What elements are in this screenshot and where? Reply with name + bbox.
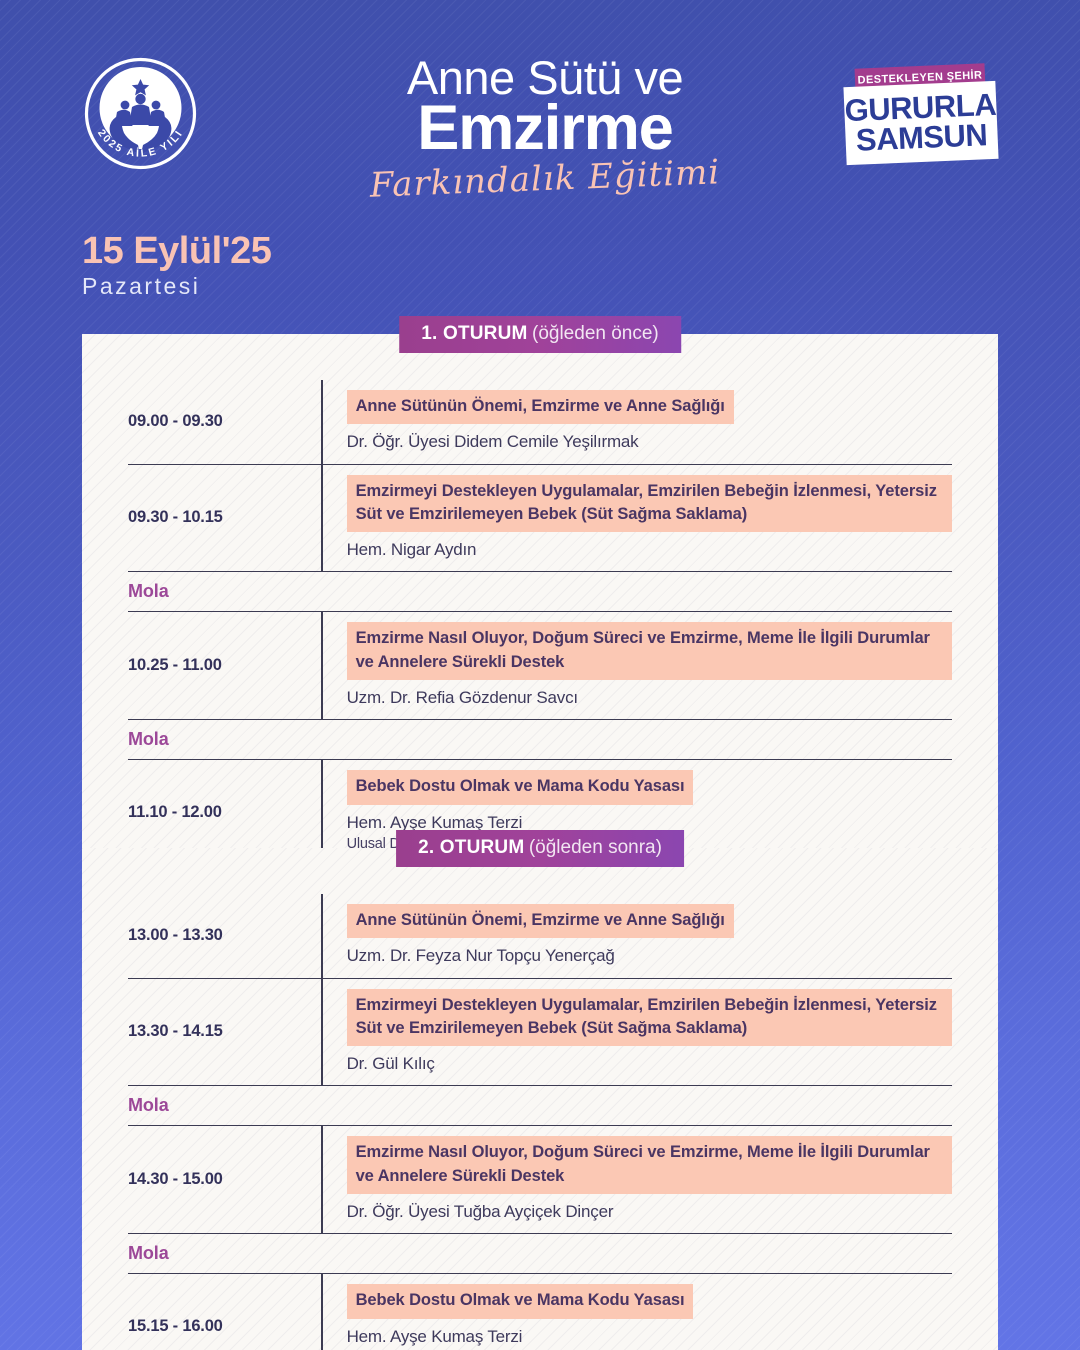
row-time: 09.00 - 09.30	[128, 380, 321, 464]
row-topic: Emzirmeyi Destekleyen Uygulamalar, Emzir…	[347, 989, 952, 1047]
row-speaker-name: Hem. Ayşe Kumaş Terzi	[347, 1327, 523, 1346]
title-line-2: Emzirme	[300, 97, 790, 160]
row-speaker: Dr. Öğr. Üyesi Tuğba Ayçiçek Dinçer	[347, 1201, 952, 1223]
session-block-1: 1. OTURUM (öğleden önce) 09.00 - 09.30An…	[82, 334, 998, 887]
break-label: Mola	[128, 581, 169, 601]
session-2-banner-bold: 2. OTURUM	[418, 837, 524, 858]
supporting-city-badge: DESTEKLEYEN ŞEHİR GURURLA SAMSUN	[845, 66, 997, 166]
event-date: 15 Eylül'25 Pazartesi	[82, 232, 271, 300]
break-row: Mola	[128, 571, 952, 611]
session-1-banner-light: (öğleden önce)	[532, 323, 659, 344]
badge-word-2: SAMSUN	[855, 120, 987, 155]
row-content: Emzirmeyi Destekleyen Uygulamalar, Emzir…	[323, 979, 952, 1086]
badge-main-block: GURURLA SAMSUN	[843, 81, 998, 165]
row-topic: Emzirme Nasıl Oluyor, Doğum Süreci ve Em…	[347, 622, 952, 680]
row-time: 09.30 - 10.15	[128, 465, 321, 572]
row-time: 13.30 - 14.15	[128, 979, 321, 1086]
break-label: Mola	[128, 729, 169, 749]
row-content: Emzirmeyi Destekleyen Uygulamalar, Emzir…	[323, 465, 952, 572]
session-2-banner-light: (öğleden sonra)	[529, 837, 662, 858]
row-speaker: Uzm. Dr. Refia Gözdenur Savcı	[347, 687, 952, 709]
row-time: 10.25 - 11.00	[128, 612, 321, 719]
row-speaker-name: Hem. Ayşe Kumaş Terzi	[347, 813, 523, 832]
break-label: Mola	[128, 1243, 169, 1263]
row-topic: Emzirmeyi Destekleyen Uygulamalar, Emzir…	[347, 475, 952, 533]
row-speaker-name: Uzm. Dr. Refia Gözdenur Savcı	[347, 688, 578, 707]
session-1-card: 09.00 - 09.30Anne Sütünün Önemi, Emzirme…	[82, 334, 998, 887]
poster-header: 2025 AİLE YILI Anne Sütü ve Emzirme Fark…	[0, 0, 1080, 215]
row-speaker: Hem. Nigar Aydın	[347, 539, 952, 561]
row-topic: Emzirme Nasıl Oluyor, Doğum Süreci ve Em…	[347, 1136, 952, 1194]
title-line-3: Farkındalık Eğitimi	[300, 153, 791, 206]
row-topic: Bebek Dostu Olmak ve Mama Kodu Yasası	[347, 1284, 694, 1318]
date-main: 15 Eylül'25	[82, 232, 271, 272]
row-topic: Anne Sütünün Önemi, Emzirme ve Anne Sağl…	[347, 390, 734, 424]
row-speaker-name: Dr. Gül Kılıç	[347, 1054, 435, 1073]
break-label: Mola	[128, 1095, 169, 1115]
schedule-row: 14.30 - 15.00Emzirme Nasıl Oluyor, Doğum…	[128, 1125, 952, 1233]
break-row: Mola	[128, 1085, 952, 1125]
session-2-banner: 2. OTURUM (öğleden sonra)	[396, 830, 684, 867]
row-time: 14.30 - 15.00	[128, 1126, 321, 1233]
row-content: Bebek Dostu Olmak ve Mama Kodu YasasıHem…	[323, 1274, 952, 1350]
break-row: Mola	[128, 1233, 952, 1273]
session-1-banner-bold: 1. OTURUM	[421, 323, 527, 344]
schedule-row: 09.30 - 10.15Emzirmeyi Destekleyen Uygul…	[128, 464, 952, 572]
row-speaker-name: Dr. Öğr. Üyesi Didem Cemile Yeşilırmak	[347, 432, 639, 451]
session-2-rows: 13.00 - 13.30Anne Sütünün Önemi, Emzirme…	[128, 894, 952, 1350]
schedule-row: 15.15 - 16.00Bebek Dostu Olmak ve Mama K…	[128, 1273, 952, 1350]
date-weekday: Pazartesi	[82, 273, 271, 300]
row-topic: Bebek Dostu Olmak ve Mama Kodu Yasası	[347, 770, 694, 804]
row-topic: Anne Sütünün Önemi, Emzirme ve Anne Sağl…	[347, 904, 734, 938]
schedule-row: 09.00 - 09.30Anne Sütünün Önemi, Emzirme…	[128, 380, 952, 464]
row-content: Emzirme Nasıl Oluyor, Doğum Süreci ve Em…	[323, 1126, 952, 1233]
session-2-card: 13.00 - 13.30Anne Sütünün Önemi, Emzirme…	[82, 848, 998, 1350]
schedule-row: 13.00 - 13.30Anne Sütünün Önemi, Emzirme…	[128, 894, 952, 978]
schedule-row: 13.30 - 14.15Emzirmeyi Destekleyen Uygul…	[128, 978, 952, 1086]
poster-title: Anne Sütü ve Emzirme Farkındalık Eğitimi	[300, 54, 790, 196]
row-time: 13.00 - 13.30	[128, 894, 321, 978]
schedule-row: 10.25 - 11.00Emzirme Nasıl Oluyor, Doğum…	[128, 611, 952, 719]
row-speaker: Uzm. Dr. Feyza Nur Topçu Yenerçağ	[347, 945, 952, 967]
row-content: Anne Sütünün Önemi, Emzirme ve Anne Sağl…	[323, 894, 952, 978]
family-year-emblem-icon: 2025 AİLE YILI	[82, 55, 199, 172]
row-content: Emzirme Nasıl Oluyor, Doğum Süreci ve Em…	[323, 612, 952, 719]
session-1-rows: 09.00 - 09.30Anne Sütünün Önemi, Emzirme…	[128, 380, 952, 865]
row-speaker: Dr. Öğr. Üyesi Didem Cemile Yeşilırmak	[347, 431, 952, 453]
poster-root: 2025 AİLE YILI Anne Sütü ve Emzirme Fark…	[0, 0, 1080, 1350]
break-row: Mola	[128, 719, 952, 759]
session-block-2: 2. OTURUM (öğleden sonra) 13.00 - 13.30A…	[82, 848, 998, 1350]
row-speaker-name: Hem. Nigar Aydın	[347, 540, 477, 559]
row-speaker-name: Uzm. Dr. Feyza Nur Topçu Yenerçağ	[347, 946, 615, 965]
row-speaker-name: Dr. Öğr. Üyesi Tuğba Ayçiçek Dinçer	[347, 1202, 614, 1221]
row-time: 15.15 - 16.00	[128, 1274, 321, 1350]
session-1-banner: 1. OTURUM (öğleden önce)	[399, 316, 681, 353]
row-content: Anne Sütünün Önemi, Emzirme ve Anne Sağl…	[323, 380, 952, 464]
row-speaker: Dr. Gül Kılıç	[347, 1053, 952, 1075]
row-speaker: Hem. Ayşe Kumaş TerziUlusal Değerlendirm…	[347, 1326, 952, 1350]
